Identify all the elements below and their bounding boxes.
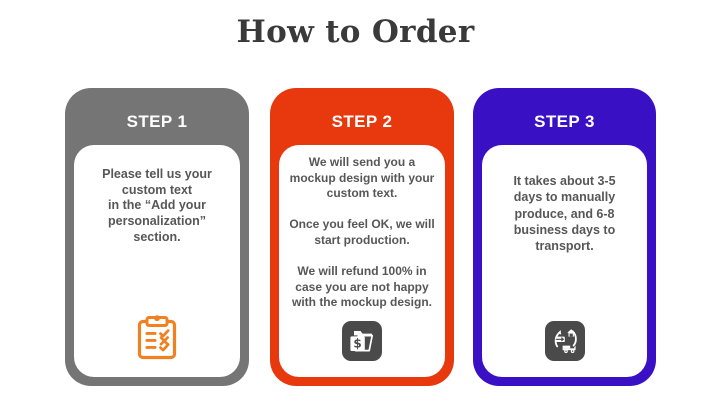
step-2-body-text: We will send you a mockup design with yo… — [287, 155, 437, 311]
step-1-panel: Please tell us your custom text in the “… — [74, 145, 240, 377]
page-title: How to Order — [0, 14, 711, 50]
step-card-3: STEP 3 It takes about 3-5 days to manual… — [473, 88, 656, 386]
delivery-truck-house-icon — [551, 328, 579, 354]
step-2-panel: We will send you a mockup design with yo… — [279, 145, 445, 377]
step-1-icon-slot — [74, 315, 240, 361]
how-to-order-infographic: How to Order STEP 1 Please tell us your … — [0, 0, 711, 409]
step-3-panel: It takes about 3-5 days to manually prod… — [482, 145, 647, 377]
step-2-icon-tile: $ — [342, 321, 382, 361]
folder-money-icon: $ — [349, 329, 375, 353]
step-2-icon-slot: $ — [279, 321, 445, 361]
step-1-body-text: Please tell us your custom text in the “… — [82, 167, 232, 245]
steps-container: STEP 1 Please tell us your custom text i… — [0, 88, 711, 388]
step-1-label: STEP 1 — [65, 112, 249, 132]
step-card-2: STEP 2 We will send you a mockup design … — [270, 88, 454, 386]
step-card-1: STEP 1 Please tell us your custom text i… — [65, 88, 249, 386]
step-3-icon-slot — [482, 321, 647, 361]
clipboard-checklist-icon — [136, 315, 178, 361]
step-2-label: STEP 2 — [270, 112, 454, 132]
step-3-body-text: It takes about 3-5 days to manually prod… — [490, 173, 639, 254]
step-3-icon-tile — [545, 321, 585, 361]
step-3-label: STEP 3 — [473, 112, 656, 132]
svg-text:$: $ — [353, 337, 361, 351]
